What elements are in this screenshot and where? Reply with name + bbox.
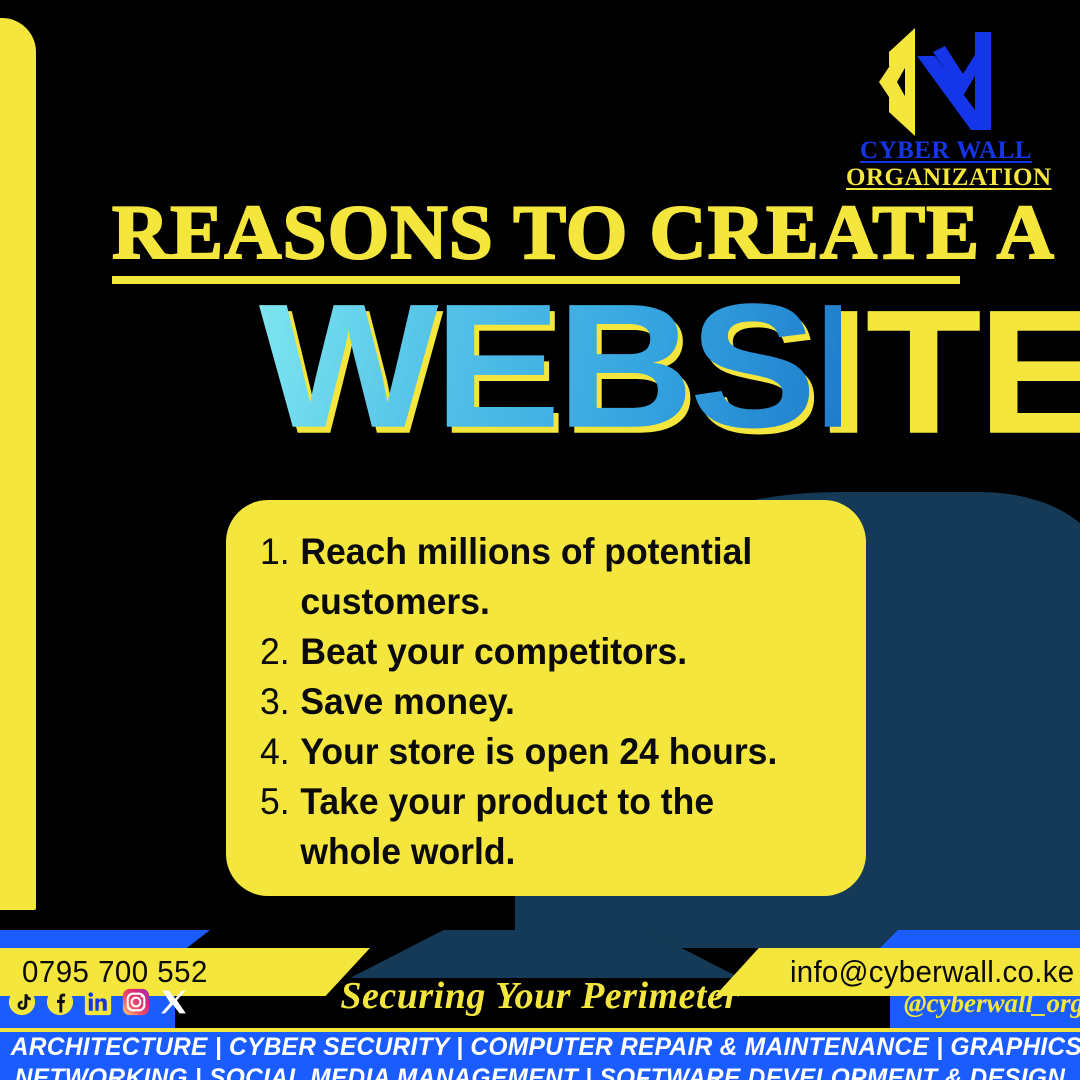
footer-navy-center-shape <box>350 930 740 978</box>
reasons-list: Reach millions of potential customers. B… <box>260 527 832 877</box>
big-word: WEBSITE <box>259 278 841 455</box>
cyberwall-cw-monogram-icon <box>871 26 1021 138</box>
tiktok-icon[interactable] <box>8 988 36 1016</box>
instagram-icon[interactable] <box>122 988 150 1016</box>
footer-blue-left-strip <box>0 930 210 948</box>
services-line-1: ARCHITECTURE | CYBER SECURITY | COMPUTER… <box>11 1032 1069 1063</box>
left-accent-bar <box>0 18 36 910</box>
reasons-card: Reach millions of potential customers. B… <box>226 500 866 896</box>
poster-canvas: CYBER WALL ORGANIZATION REASONS TO CREAT… <box>0 0 1080 1080</box>
facebook-icon[interactable] <box>46 988 74 1016</box>
social-handle[interactable]: @cyberwall_org <box>904 988 1080 1019</box>
footer-bar: 0795 700 552 info@cyberwall.co.ke Securi… <box>0 930 1080 1080</box>
list-item: Reach millions of potential customers. <box>260 527 809 627</box>
services-list: ARCHITECTURE | CYBER SECURITY | COMPUTER… <box>0 1032 1080 1080</box>
list-item: Take your product to the whole world. <box>260 777 809 877</box>
x-icon[interactable] <box>160 988 188 1016</box>
big-word-block: WEBSITE WEBSITE <box>290 278 810 453</box>
brand-logo: CYBER WALL ORGANIZATION <box>846 26 1046 186</box>
list-item: Your store is open 24 hours. <box>260 727 809 777</box>
footer-blue-right-strip <box>880 930 1080 948</box>
social-icons <box>8 988 188 1016</box>
list-item: Save money. <box>260 677 809 727</box>
headline-line1: REASONS TO CREATE A <box>112 196 998 268</box>
services-line-2: NETWORKING | SOCIAL MEDIA MANAGEMENT | S… <box>11 1063 1069 1080</box>
list-item: Beat your competitors. <box>260 627 809 677</box>
linkedin-icon[interactable] <box>84 988 112 1016</box>
brand-name-line1: CYBER WALL <box>846 138 1046 164</box>
